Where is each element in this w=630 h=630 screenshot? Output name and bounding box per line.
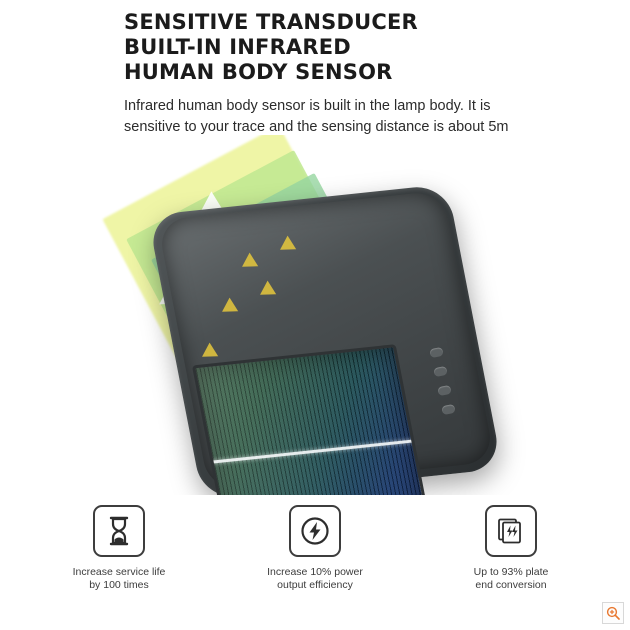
feature-item-plate-conversion: Up to 93% plate end conversion [441,505,581,592]
headline-line-2: BUILT-IN INFRARED [124,35,604,60]
panel-glare [192,344,357,495]
feature-label-line-2: output efficiency [277,579,353,591]
feature-label: Increase 10% power output efficiency [267,566,363,592]
solar-panel [192,344,434,495]
product-illustration [0,135,630,495]
feature-label: Increase service life by 100 times [73,566,166,592]
feature-label: Up to 93% plate end conversion [474,566,549,592]
feature-label-line-2: by 100 times [89,579,149,591]
lightning-circle-icon [289,505,341,557]
feature-label-line-1: Increase service life [73,566,166,578]
product-info-page: SENSITIVE TRANSDUCER BUILT-IN INFRARED H… [0,0,630,630]
feature-label-line-1: Up to 93% plate [474,566,549,578]
headline-line-1: SENSITIVE TRANSDUCER [124,10,604,35]
feature-label-line-1: Increase 10% power [267,566,363,578]
feature-item-service-life: Increase service life by 100 times [49,505,189,592]
hourglass-icon [93,505,145,557]
feature-row: Increase service life by 100 times Incre… [0,505,630,592]
heading-paragraph: Infrared human body sensor is built in t… [124,96,524,138]
magnifier-plus-icon [606,606,620,620]
heading-block: SENSITIVE TRANSDUCER BUILT-IN INFRARED H… [124,10,604,138]
feature-label-line-2: end conversion [475,579,546,591]
zoom-in-button[interactable] [602,602,624,624]
headline-line-3: HUMAN BODY SENSOR [124,60,604,85]
feature-item-power-efficiency: Increase 10% power output efficiency [245,505,385,592]
plate-stack-icon [485,505,537,557]
